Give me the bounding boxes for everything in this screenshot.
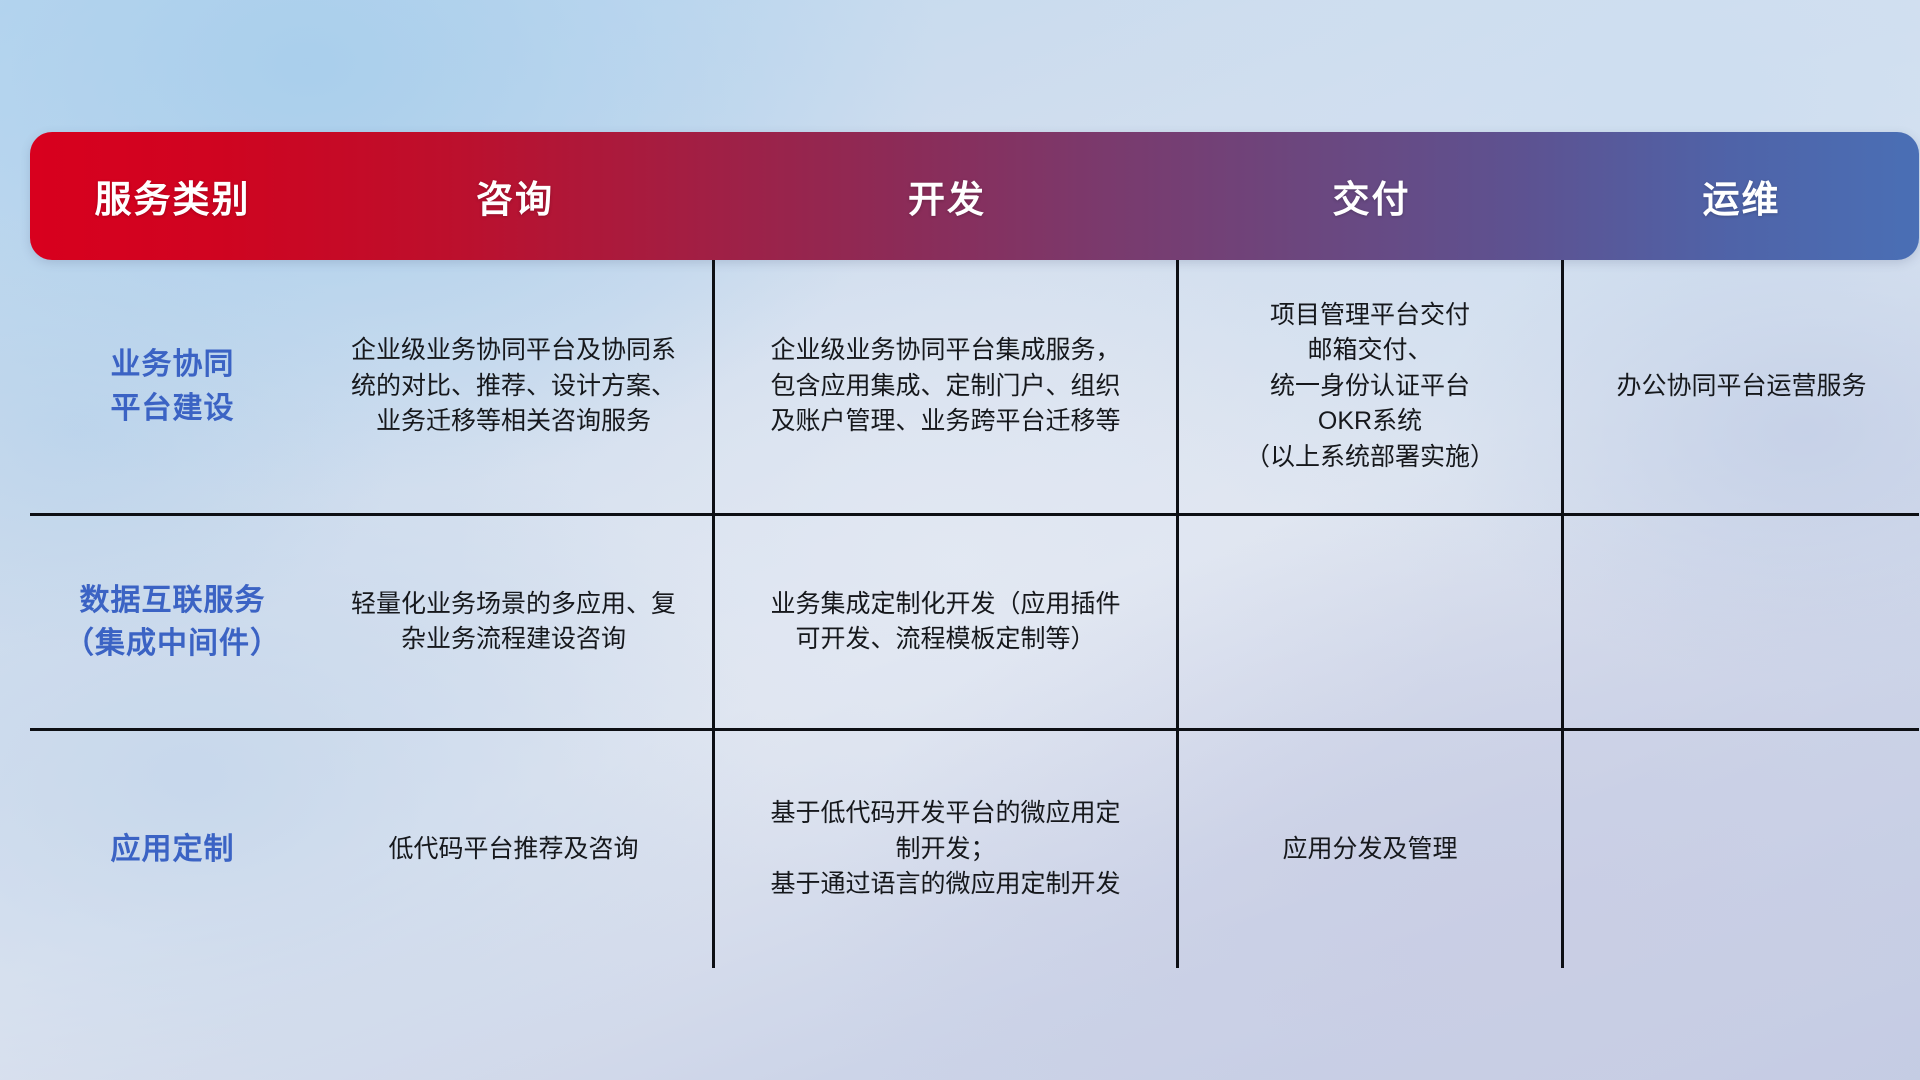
cell-consulting: 低代码平台推荐及咨询 [315, 731, 715, 968]
table-header-row: 服务类别 咨询 开发 交付 运维 [30, 132, 1919, 260]
service-category-table: 服务类别 咨询 开发 交付 运维 业务协同 平台建设 企业级业务协同平台及协同系… [30, 132, 1919, 968]
cell-operations [1564, 516, 1919, 728]
cell-consulting: 企业级业务协同平台及协同系 统的对比、推荐、设计方案、 业务迁移等相关咨询服务 [315, 260, 715, 513]
table-body: 业务协同 平台建设 企业级业务协同平台及协同系 统的对比、推荐、设计方案、 业务… [30, 260, 1919, 968]
row-category-label: 数据互联服务 （集成中间件） [30, 516, 315, 728]
cell-delivery: 项目管理平台交付 邮箱交付、 统一身份认证平台 OKR系统 （以上系统部署实施） [1179, 260, 1564, 513]
table-row: 应用定制 低代码平台推荐及咨询 基于低代码开发平台的微应用定 制开发； 基于通过… [30, 731, 1919, 968]
cell-delivery [1179, 516, 1564, 728]
cell-development: 企业级业务协同平台集成服务， 包含应用集成、定制门户、组织 及账户管理、业务跨平… [715, 260, 1179, 513]
cell-operations [1564, 731, 1919, 968]
cell-development: 基于低代码开发平台的微应用定 制开发； 基于通过语言的微应用定制开发 [715, 731, 1179, 968]
row-category-label: 应用定制 [30, 731, 315, 968]
row-category-label: 业务协同 平台建设 [30, 260, 315, 513]
table-row: 数据互联服务 （集成中间件） 轻量化业务场景的多应用、复 杂业务流程建设咨询 业… [30, 516, 1919, 731]
header-cell-development: 开发 [715, 132, 1179, 260]
cell-consulting: 轻量化业务场景的多应用、复 杂业务流程建设咨询 [315, 516, 715, 728]
table-row: 业务协同 平台建设 企业级业务协同平台及协同系 统的对比、推荐、设计方案、 业务… [30, 260, 1919, 516]
header-cell-delivery: 交付 [1179, 132, 1564, 260]
header-cell-operations: 运维 [1564, 132, 1919, 260]
cell-development: 业务集成定制化开发（应用插件 可开发、流程模板定制等） [715, 516, 1179, 728]
header-cell-consulting: 咨询 [315, 132, 715, 260]
cell-operations: 办公协同平台运营服务 [1564, 260, 1919, 513]
header-cell-service-category: 服务类别 [30, 132, 315, 260]
cell-delivery: 应用分发及管理 [1179, 731, 1564, 968]
